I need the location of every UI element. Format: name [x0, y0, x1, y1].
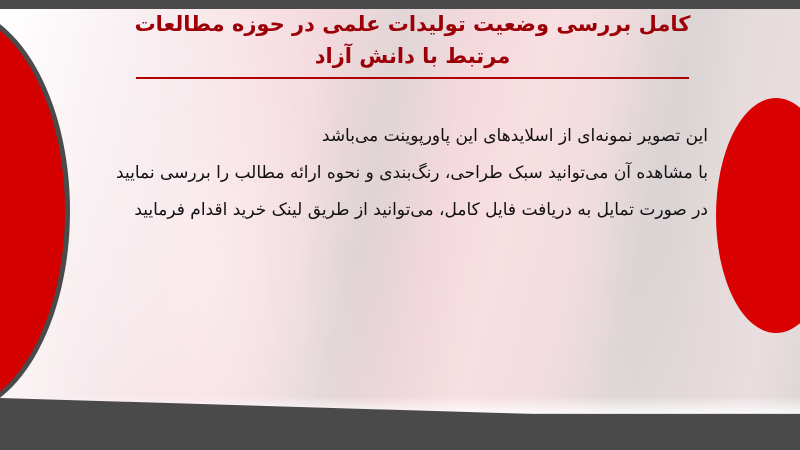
slide-title-line-1: کامل بررسی وضعیت تولیدات علمی در حوزه مط… — [130, 8, 695, 40]
slide-title: کامل بررسی وضعیت تولیدات علمی در حوزه مط… — [130, 8, 695, 72]
slide-body-line-1: این تصویر نمونه‌ای از اسلایدهای این پاور… — [68, 118, 708, 155]
slide-body-line-3: در صورت تمایل به دریافت فایل کامل، می‌تو… — [68, 192, 708, 229]
title-underline — [136, 77, 689, 79]
slide-title-line-2: مرتبط با دانش آزاد — [130, 40, 695, 72]
slide-canvas: کامل بررسی وضعیت تولیدات علمی در حوزه مط… — [0, 0, 800, 450]
slide-body: این تصویر نمونه‌ای از اسلایدهای این پاور… — [68, 118, 708, 229]
slide-body-line-2: با مشاهده آن می‌توانید سبک طراحی، رنگ‌بن… — [68, 155, 708, 192]
